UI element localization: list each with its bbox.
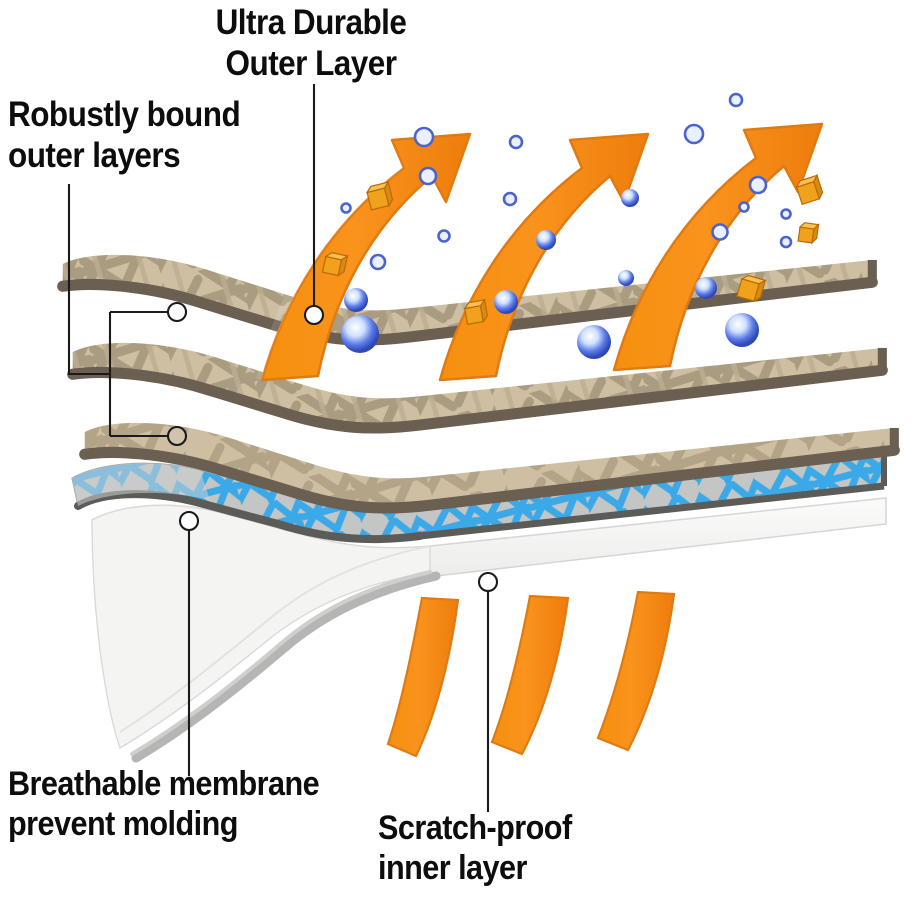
- airflow-arrows-down: [388, 592, 674, 756]
- label-robustly-bound-outer-layers: Robustly bound outer layers: [8, 94, 240, 177]
- diagram-canvas: Ultra Durable Outer Layer Robustly bound…: [0, 0, 916, 902]
- label-scratch-proof-inner-layer: Scratch-proof inner layer: [378, 808, 572, 888]
- label-breathable-membrane: Breathable membrane prevent molding: [8, 764, 319, 844]
- label-ultra-durable-outer-layer: Ultra Durable Outer Layer: [216, 2, 407, 85]
- scratch-proof-leader: [479, 573, 497, 812]
- robustly-bound-leader: [69, 184, 186, 445]
